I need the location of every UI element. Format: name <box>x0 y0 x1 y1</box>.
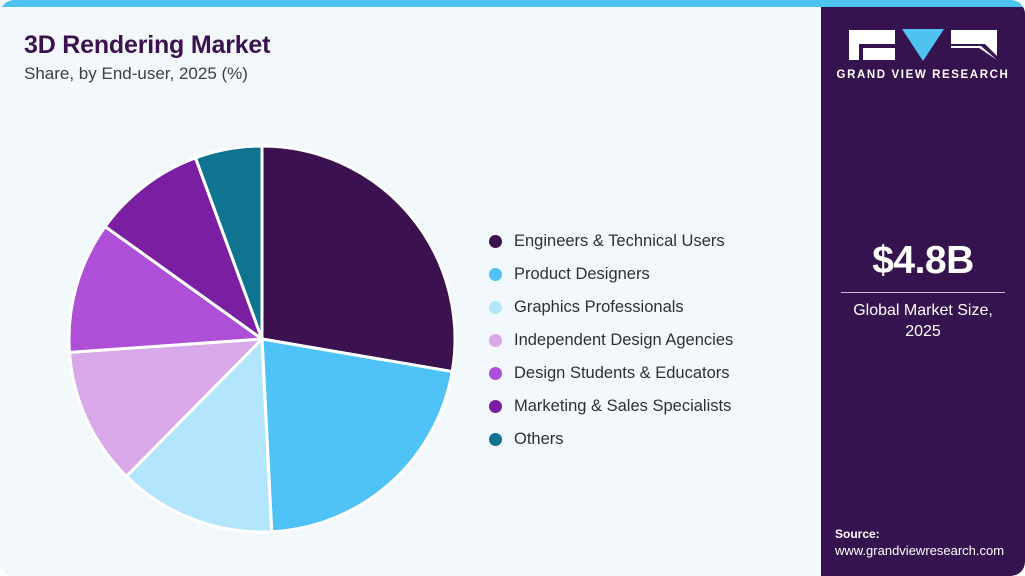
logo-wordmark: GRAND VIEW RESEARCH <box>821 69 1025 81</box>
legend-item-label: Others <box>514 430 564 449</box>
pie-chart <box>60 137 464 541</box>
info-panel: GRAND VIEW RESEARCH $4.8B Global Market … <box>821 7 1025 576</box>
legend-item-label: Product Designers <box>514 265 650 284</box>
market-size-caption: Global Market Size, 2025 <box>835 301 1011 343</box>
source-url[interactable]: www.grandviewresearch.com <box>835 543 1015 558</box>
legend-item[interactable]: Engineers & Technical Users <box>489 225 733 258</box>
legend-item[interactable]: Independent Design Agencies <box>489 324 733 357</box>
page-subtitle: Share, by End-user, 2025 (%) <box>24 64 248 84</box>
market-size-stat: $4.8B Global Market Size, 2025 <box>835 239 1011 343</box>
market-size-value: $4.8B <box>835 239 1011 283</box>
chart-card: 3D Rendering Market Share, by End-user, … <box>0 0 1025 576</box>
page-title: 3D Rendering Market <box>24 31 270 60</box>
pie-slice[interactable] <box>262 146 455 372</box>
logo-v-triangle-icon <box>902 29 944 61</box>
legend-color-swatch-icon <box>489 301 502 314</box>
legend-color-swatch-icon <box>489 334 502 347</box>
legend-item[interactable]: Graphics Professionals <box>489 291 733 324</box>
pie-slice[interactable] <box>262 339 452 532</box>
legend-item[interactable]: Others <box>489 423 733 456</box>
legend-item[interactable]: Marketing & Sales Specialists <box>489 390 733 423</box>
source-block: Source: www.grandviewresearch.com <box>835 527 1015 558</box>
pie-chart-svg <box>60 137 464 541</box>
legend-item-label: Graphics Professionals <box>514 298 684 317</box>
logo-r-icon <box>951 30 997 60</box>
legend-item-label: Marketing & Sales Specialists <box>514 397 731 416</box>
legend-item-label: Design Students & Educators <box>514 364 730 383</box>
logo-g-icon <box>849 30 895 60</box>
chart-legend: Engineers & Technical UsersProduct Desig… <box>489 225 733 456</box>
stat-divider <box>841 292 1005 293</box>
legend-item-label: Engineers & Technical Users <box>514 232 725 251</box>
chart-area: 3D Rendering Market Share, by End-user, … <box>0 7 821 576</box>
legend-color-swatch-icon <box>489 433 502 446</box>
legend-color-swatch-icon <box>489 235 502 248</box>
top-accent-bar <box>0 0 1025 7</box>
brand-logo: GRAND VIEW RESEARCH <box>821 29 1025 81</box>
legend-item[interactable]: Product Designers <box>489 258 733 291</box>
legend-color-swatch-icon <box>489 268 502 281</box>
legend-item-label: Independent Design Agencies <box>514 331 733 350</box>
source-label: Source: <box>835 527 1015 541</box>
legend-color-swatch-icon <box>489 400 502 413</box>
legend-item[interactable]: Design Students & Educators <box>489 357 733 390</box>
legend-color-swatch-icon <box>489 367 502 380</box>
logo-marks <box>821 29 1025 61</box>
